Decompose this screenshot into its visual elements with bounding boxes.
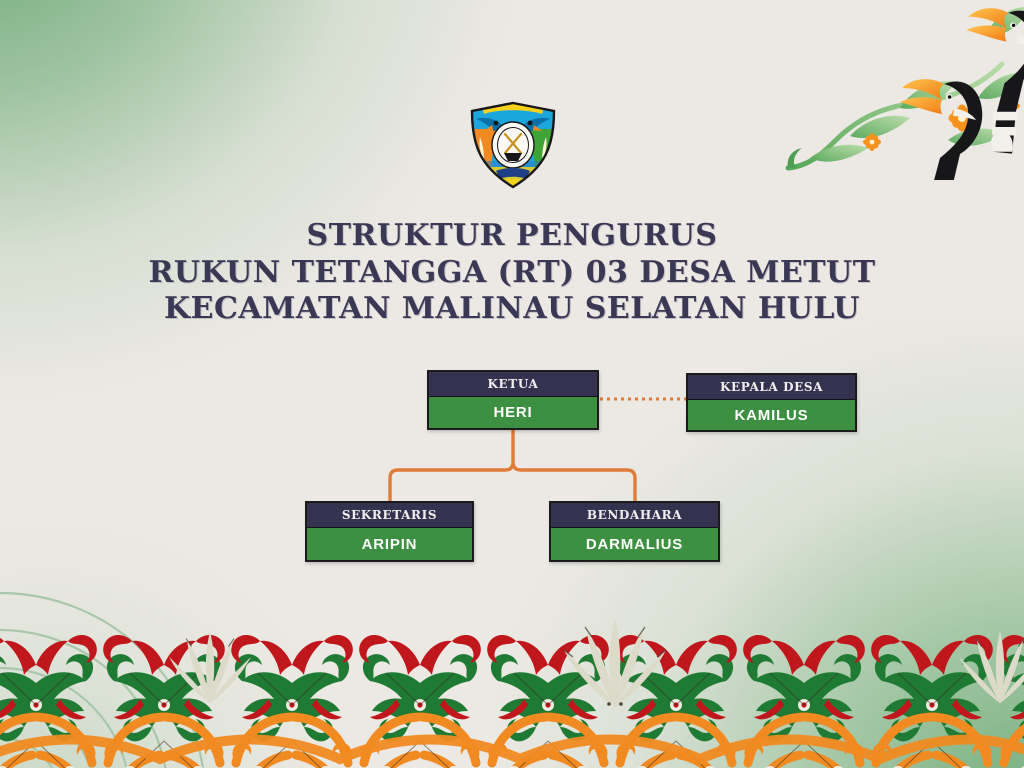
org-node-person: DARMALIUS xyxy=(551,528,718,560)
org-node-person: HERI xyxy=(429,397,597,428)
org-node-bendahara[interactable]: BENDAHARA DARMALIUS xyxy=(549,501,720,562)
edge-ketua-children xyxy=(390,430,635,501)
org-node-role: BENDAHARA xyxy=(551,503,718,528)
org-node-role: KEPALA DESA xyxy=(688,375,855,400)
feather-fan-ornament xyxy=(150,616,270,706)
poster-canvas: STRUKTUR PENGURUS RUKUN TETANGGA (RT) 03… xyxy=(0,0,1024,768)
org-node-sekretaris[interactable]: SEKRETARIS ARIPIN xyxy=(305,501,474,562)
org-node-role: KETUA xyxy=(429,372,597,397)
org-node-kepala-desa[interactable]: KEPALA DESA KAMILUS xyxy=(686,373,857,432)
feather-fan-ornament xyxy=(940,616,1024,706)
feather-fan-ornament xyxy=(540,600,690,710)
org-node-role: SEKRETARIS xyxy=(307,503,472,528)
org-node-person: ARIPIN xyxy=(307,528,472,560)
org-node-ketua[interactable]: KETUA HERI xyxy=(427,370,599,430)
org-node-person: KAMILUS xyxy=(688,400,855,430)
